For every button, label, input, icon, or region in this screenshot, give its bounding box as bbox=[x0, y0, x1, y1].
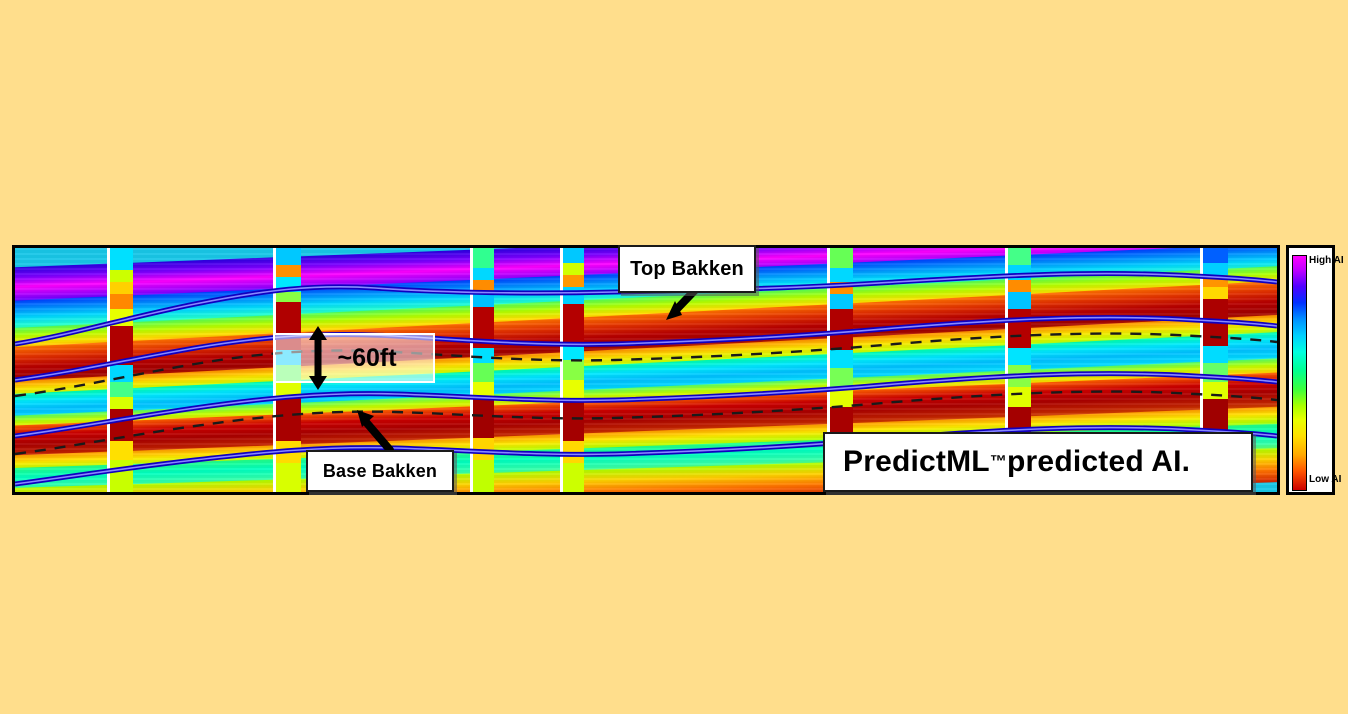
label-base-bakken: Base Bakken bbox=[306, 450, 454, 492]
label-base-bakken-text: Base Bakken bbox=[323, 461, 437, 482]
label-top-bakken-text: Top Bakken bbox=[630, 258, 744, 281]
well-track[interactable] bbox=[560, 248, 584, 492]
thickness-double-arrow-icon bbox=[305, 326, 331, 390]
colorbar-legend: High AI Low AI bbox=[1286, 245, 1335, 495]
colorbar-gradient bbox=[1292, 255, 1307, 491]
colorbar-low-label: Low AI bbox=[1309, 474, 1341, 485]
thickness-callout-box: ~60ft bbox=[273, 333, 435, 383]
label-top-bakken: Top Bakken bbox=[618, 245, 756, 293]
well-track[interactable] bbox=[470, 248, 494, 492]
title-brand: PredictML bbox=[843, 445, 990, 479]
title-box-predictml: PredictML™ predicted AI. bbox=[823, 432, 1253, 492]
colorbar-high-label: High AI bbox=[1309, 255, 1344, 266]
title-suffix: predicted AI. bbox=[1007, 445, 1190, 479]
well-track[interactable] bbox=[107, 248, 133, 492]
